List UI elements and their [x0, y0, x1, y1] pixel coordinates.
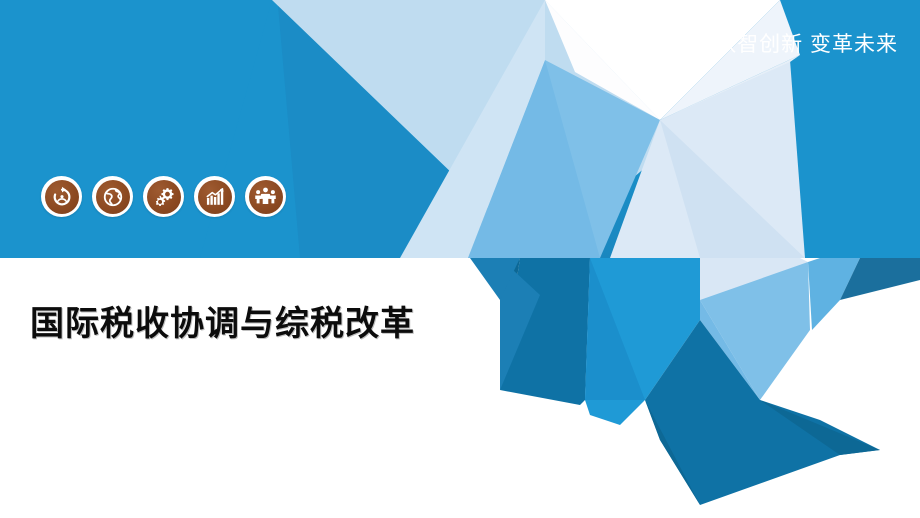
icon-row [41, 176, 286, 217]
bar-chart-icon-disc [198, 180, 232, 214]
polygon-decoration [0, 0, 920, 518]
people-group-icon[interactable] [245, 176, 286, 217]
people-group-icon-disc [249, 180, 283, 214]
gears-icon-disc [147, 180, 181, 214]
globe-icon[interactable] [92, 176, 133, 217]
gears-icon[interactable] [143, 176, 184, 217]
tagline-text: 数智创新 变革未来 [715, 28, 898, 58]
page-title: 国际税收协调与综税改革 [30, 296, 415, 345]
globe-icon-disc [96, 180, 130, 214]
bar-chart-icon[interactable] [194, 176, 235, 217]
refresh-cycle-icon-disc [45, 180, 79, 214]
refresh-cycle-icon[interactable] [41, 176, 82, 217]
slide-canvas: 数智创新 变革未来 [0, 0, 920, 518]
